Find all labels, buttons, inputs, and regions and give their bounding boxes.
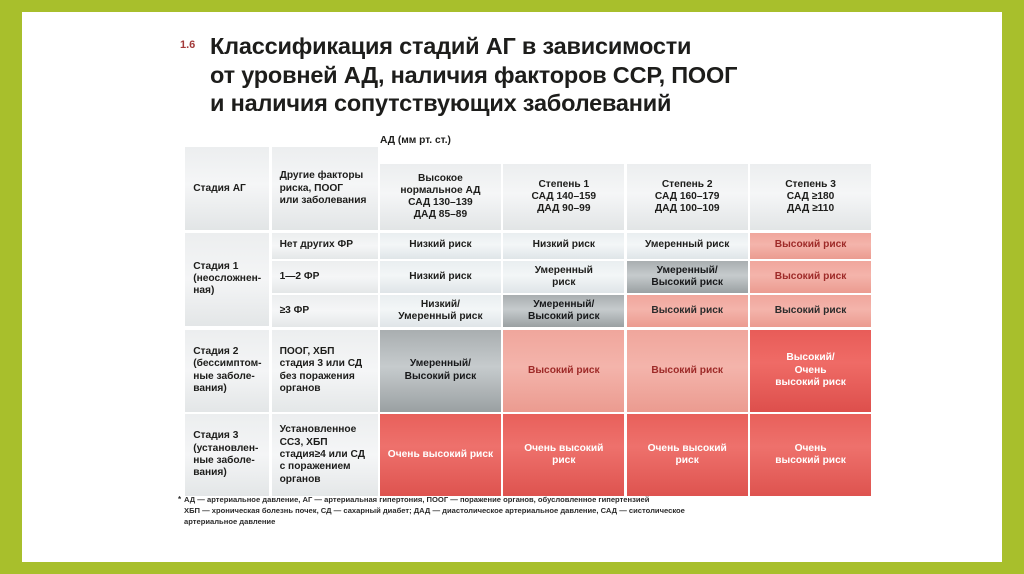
footnote: * АД — артериальное давление, АГ — артер…: [184, 494, 884, 528]
slide-canvas: 1.6 Классификация стадий АГ в зависимост…: [22, 12, 1002, 562]
table-row: 1—2 ФР Низкий риск Умеренный риск Умерен…: [270, 260, 872, 294]
super-header-spacer-factors: [268, 129, 374, 146]
footnote-line-1: АД — артериальное давление, АГ — артериа…: [184, 494, 884, 505]
risk-cell: Умеренный риск: [627, 233, 748, 259]
risk-cell: Высокий риск: [750, 233, 871, 259]
title-text: Классификация стадий АГ в зависимости от…: [210, 32, 820, 118]
header-factors: Другие факторы риска, ПООГ или заболеван…: [272, 147, 378, 230]
table-row: ПООГ, ХБП стадия 3 или СД без поражения …: [270, 329, 872, 413]
risk-cell: Очень высокий риск: [750, 414, 871, 496]
stage-2-rows: ПООГ, ХБП стадия 3 или СД без поражения …: [270, 329, 872, 413]
bp-super-header-band: АД (мм рт. ст.): [184, 129, 869, 146]
risk-cell: Умеренный/ Высокий риск: [380, 330, 501, 412]
factor-cell: ПООГ, ХБП стадия 3 или СД без поражения …: [272, 330, 378, 412]
risk-cell: Низкий риск: [380, 233, 501, 259]
footnote-marker: *: [178, 494, 181, 505]
table-group-stage-2: Стадия 2 (бессимптом- ные заболе- вания)…: [184, 329, 869, 413]
bp-super-header-label: АД (мм рт. ст.): [374, 129, 869, 146]
header-bp-high-normal: Высокое нормальное АД САД 130–139 ДАД 85…: [380, 164, 501, 230]
risk-cell: Очень высокий риск: [627, 414, 748, 496]
table-group-stage-1: Стадия 1 (неосложнен- ная) Нет других ФР…: [184, 231, 869, 328]
header-bp-grade-1: Степень 1 САД 140–159 ДАД 90–99: [503, 164, 624, 230]
title-line-1: Классификация стадий АГ в зависимости: [210, 32, 820, 61]
header-bp-grade-2: Степень 2 САД 160–179 ДАД 100–109: [627, 164, 748, 230]
risk-cell: Высокий риск: [503, 330, 624, 412]
risk-cell: Умеренный/ Высокий риск: [503, 295, 624, 327]
stage-label-2: Стадия 2 (бессимптом- ные заболе- вания): [185, 330, 269, 412]
factor-cell: Установленное ССЗ, ХБП стадия≥4 или СД с…: [272, 414, 378, 496]
risk-cell: Очень высокий риск: [503, 414, 624, 496]
risk-cell: Высокий риск: [750, 295, 871, 327]
stage-3-rows: Установленное ССЗ, ХБП стадия≥4 или СД с…: [270, 413, 872, 497]
section-number: 1.6: [180, 39, 195, 51]
footnote-line-2: ХБП — хроническая болезнь почек, СД — са…: [184, 505, 884, 516]
factor-cell: 1—2 ФР: [272, 261, 378, 293]
risk-classification-table: АД (мм рт. ст.) Стадия АГ Другие факторы…: [184, 129, 869, 497]
risk-cell: Умеренный риск: [503, 261, 624, 293]
risk-cell: Высокий риск: [627, 295, 748, 327]
factor-cell: Нет других ФР: [272, 233, 378, 259]
table-header-row: Стадия АГ Другие факторы риска, ПООГ или…: [184, 146, 869, 231]
risk-cell: Высокий/ Очень высокий риск: [750, 330, 871, 412]
stage-1-rows: Нет других ФР Низкий риск Низкий риск Ум…: [270, 231, 872, 328]
header-stage: Стадия АГ: [185, 147, 269, 230]
risk-cell: Высокий риск: [627, 330, 748, 412]
table-row: ≥3 ФР Низкий/ Умеренный риск Умеренный/ …: [270, 294, 872, 328]
table-row: Нет других ФР Низкий риск Низкий риск Ум…: [270, 231, 872, 259]
risk-cell: Низкий риск: [380, 261, 501, 293]
slide-frame: 1.6 Классификация стадий АГ в зависимост…: [0, 0, 1024, 574]
stage-label-1: Стадия 1 (неосложнен- ная): [185, 233, 269, 326]
factor-cell: ≥3 ФР: [272, 295, 378, 327]
risk-cell: Низкий риск: [503, 233, 624, 259]
table-group-stage-3: Стадия 3 (установлен- ные заболе- вания)…: [184, 413, 869, 497]
table-row: Установленное ССЗ, ХБП стадия≥4 или СД с…: [270, 413, 872, 497]
title-line-3: и наличия сопутствующих заболеваний: [210, 89, 820, 118]
stage-label-3: Стадия 3 (установлен- ные заболе- вания): [185, 414, 269, 496]
title-line-2: от уровней АД, наличия факторов ССР, ПОО…: [210, 61, 820, 90]
risk-cell: Низкий/ Умеренный риск: [380, 295, 501, 327]
risk-cell: Очень высокий риск: [380, 414, 501, 496]
risk-cell: Высокий риск: [750, 261, 871, 293]
header-bp-grade-3: Степень 3 САД ≥180 ДАД ≥110: [750, 164, 871, 230]
footnote-line-3: артериальное давление: [184, 516, 884, 527]
page-title: 1.6 Классификация стадий АГ в зависимост…: [180, 32, 820, 118]
super-header-spacer-stage: [184, 129, 268, 146]
risk-cell: Умеренный/ Высокий риск: [627, 261, 748, 293]
